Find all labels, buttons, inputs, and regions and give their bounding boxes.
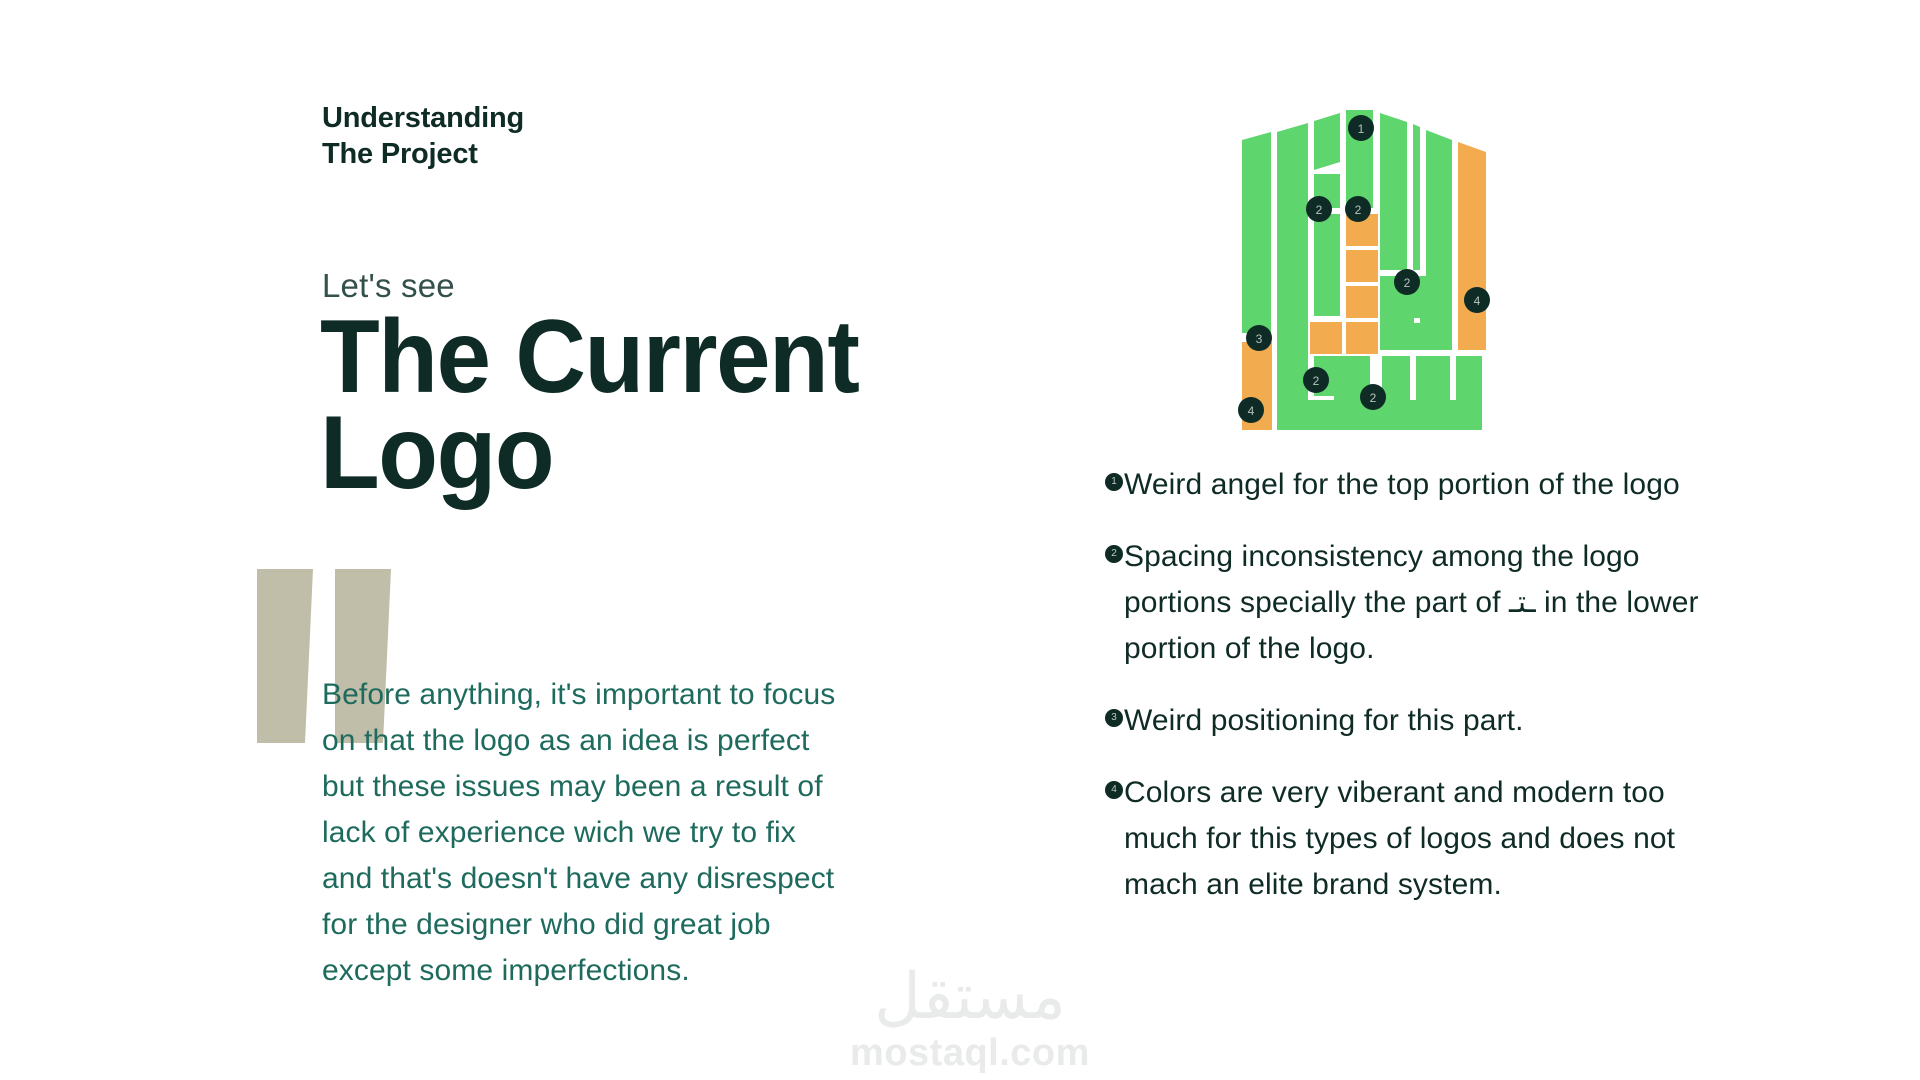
svg-text:1: 1 [1358, 122, 1365, 136]
note-marker-3: 3 [1105, 709, 1123, 727]
list-item: 4 Colors are very viberant and modern to… [1105, 770, 1745, 908]
intro-paragraph: Before anything, it's important to focus… [322, 672, 852, 994]
logo-badge-3: 3 [1246, 325, 1272, 351]
note-arabic-glyph: ـتـ [1509, 585, 1536, 620]
watermark-arabic: مستقل [845, 965, 1095, 1029]
logo-badge-2a: 2 [1306, 196, 1332, 222]
note-text-4: Colors are very viberant and modern too … [1124, 770, 1745, 908]
eyebrow-line-2: The Project [322, 136, 942, 172]
logo-badge-1: 1 [1348, 115, 1374, 141]
svg-text:4: 4 [1474, 294, 1481, 308]
list-item: 1 Weird angel for the top portion of the… [1105, 462, 1745, 508]
mostaql-watermark: مستقل mostaql.com [845, 965, 1095, 1075]
logo-badge-4a: 4 [1464, 287, 1490, 313]
slide-canvas: Understanding The Project Let's see The … [0, 0, 1920, 1080]
logo-badge-2c: 2 [1394, 269, 1420, 295]
current-logo-graphic: 1 2 2 2 3 [1230, 110, 1530, 440]
svg-text:3: 3 [1256, 332, 1263, 346]
note-text-1: Weird angel for the top portion of the l… [1124, 462, 1680, 508]
list-item: 2 Spacing inconsistency among the logo p… [1105, 534, 1745, 672]
svg-text:2: 2 [1313, 374, 1320, 388]
left-column: Understanding The Project Let's see The … [322, 100, 942, 173]
logo-badge-2d: 2 [1303, 367, 1329, 393]
svg-text:2: 2 [1404, 276, 1411, 290]
section-eyebrow: Understanding The Project [322, 100, 942, 173]
note-marker-4: 4 [1105, 781, 1123, 799]
svg-text:2: 2 [1316, 203, 1323, 217]
note-text-3: Weird positioning for this part. [1124, 698, 1524, 744]
logo-issue-list: 1 Weird angel for the top portion of the… [1105, 462, 1745, 908]
note-marker-1: 1 [1105, 473, 1123, 491]
logo-badge-4b: 4 [1238, 397, 1264, 423]
watermark-latin: mostaql.com [845, 1031, 1095, 1075]
svg-text:2: 2 [1370, 391, 1377, 405]
logo-badge-2e: 2 [1360, 384, 1386, 410]
page-title: The Current Logo [320, 310, 859, 501]
svg-text:4: 4 [1248, 404, 1255, 418]
logo-badge-2b: 2 [1345, 196, 1371, 222]
svg-text:2: 2 [1355, 203, 1362, 217]
note-marker-2: 2 [1105, 545, 1123, 563]
note-text-2: Spacing inconsistency among the logo por… [1124, 534, 1745, 672]
list-item: 3 Weird positioning for this part. [1105, 698, 1745, 744]
eyebrow-line-1: Understanding [322, 102, 524, 134]
